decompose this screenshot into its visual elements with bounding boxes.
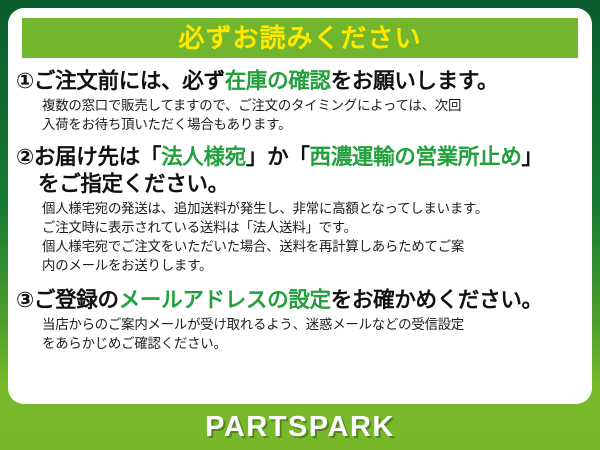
footer-brand-bar: PARTSPARK <box>0 404 600 450</box>
notice-item-3-heading-part-3: をお確かめください。 <box>331 288 543 312</box>
notice-item-1-heading-part-1: ご注文前には、必ず <box>34 69 225 93</box>
notice-item-1: ①ご注文前には、必ず在庫の確認をお願いします。 複数の窓口で販売してますので、ご… <box>16 68 582 134</box>
notice-items-list: ①ご注文前には、必ず在庫の確認をお願いします。 複数の窓口で販売してますので、ご… <box>8 66 592 355</box>
notice-item-3-heading-highlight: メールアドレスの設定 <box>119 288 331 312</box>
notice-item-2-heading-part-3: 」か「 <box>246 145 310 169</box>
notice-item-1-heading-part-3: をお願いします。 <box>331 69 498 93</box>
brand-name: PARTSPARK <box>205 413 395 442</box>
banner-title: 必ずお読みください <box>178 25 421 51</box>
notice-item-3-body: 当店からのご案内メールが受け取れるよう、迷惑メールなどの受信設定 をあらかじめご… <box>16 315 582 353</box>
notice-item-2-heading: ②お届け先は「法人様宛」か「西濃運輸の営業所止め」 <box>16 144 582 170</box>
notice-item-2-heading-part-5: 」 <box>522 145 543 169</box>
notice-card: 必ずお読みください ①ご注文前には、必ず在庫の確認をお願いします。 複数の窓口で… <box>0 0 600 450</box>
notice-item-3-heading-part-1: ご登録の <box>34 288 119 312</box>
notice-item-2-heading-highlight-2: 西濃運輸の営業所止め <box>310 145 522 169</box>
notice-item-1-number: ① <box>16 69 34 93</box>
notice-item-3-heading: ③ご登録のメールアドレスの設定をお確かめください。 <box>16 287 582 313</box>
notice-item-2-heading-part-1: お届け先は「 <box>34 145 161 169</box>
notice-item-2-heading-line2: をご指定ください。 <box>16 171 582 197</box>
white-panel: 必ずお読みください ①ご注文前には、必ず在庫の確認をお願いします。 複数の窓口で… <box>8 8 592 404</box>
notice-item-2: ②お届け先は「法人様宛」か「西濃運輸の営業所止め」 をご指定ください。 個人様宅… <box>16 144 582 275</box>
notice-item-3-number: ③ <box>16 288 34 312</box>
notice-item-1-body: 複数の窓口で販売してますので、ご注文のタイミングによっては、次回 入荷をお待ち頂… <box>16 96 582 134</box>
header-banner: 必ずお読みください <box>22 18 578 58</box>
notice-item-3: ③ご登録のメールアドレスの設定をお確かめください。 当店からのご案内メールが受け… <box>16 287 582 353</box>
notice-item-2-number: ② <box>16 145 34 169</box>
notice-item-1-heading-highlight: 在庫の確認 <box>225 69 331 93</box>
notice-item-1-heading: ①ご注文前には、必ず在庫の確認をお願いします。 <box>16 68 582 94</box>
notice-item-2-body: 個人様宅宛の発送は、追加送料が発生し、非常に高額となってしまいます。 ご注文時に… <box>16 199 582 275</box>
notice-item-2-heading-highlight-1: 法人様宛 <box>161 145 246 169</box>
